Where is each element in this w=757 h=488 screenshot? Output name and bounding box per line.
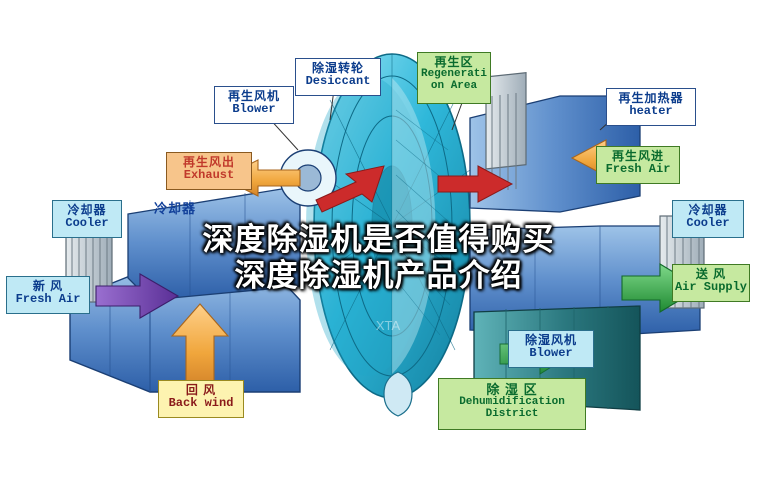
label-regeneration-fresh-air-in-en: Fresh Air [597,163,679,176]
label-regeneration-area-cn: 再生区 [418,56,490,69]
label-back-wind-cn: 回 风 [159,384,243,397]
label-cooler-right-en: Cooler [673,217,743,230]
label-desiccant-wheel: 除湿转轮 Desiccant [295,58,381,96]
label-back-wind: 回 风 Back wind [158,380,244,418]
label-cooler-right: 冷却器 Cooler [672,200,744,238]
label-regeneration-heater-en: heater [607,105,695,118]
label-cooler-left-en: Cooler [53,217,121,230]
svg-text:XTA: XTA [376,318,401,333]
label-dehumidification-blower: 除湿风机 Blower [508,330,594,368]
label-regeneration-area-en: Regenerati on Area [418,69,490,93]
label-regeneration-heater-cn: 再生加热器 [607,92,695,105]
label-fresh-air: 新 风 Fresh Air [6,276,90,314]
label-dehumidification-district-en: Dehumidification District [439,397,585,421]
diagram-canvas: XTA 除湿转轮 Desiccant 再生风机 Blower 再生区 Regen… [0,0,757,488]
label-back-wind-en: Back wind [159,397,243,410]
label-air-supply: 送 风 Air Supply [672,264,750,302]
label-regeneration-exhaust: 再生风出 Exhaust [166,152,252,190]
label-dehumidification-district: 除 湿 区 Dehumidification District [438,378,586,430]
label-cooler-left: 冷却器 Cooler [52,200,122,238]
label-fresh-air-en: Fresh Air [7,293,89,306]
label-cooler-left-plain: 冷却器 [140,198,210,217]
label-dehumidification-district-cn: 除 湿 区 [439,383,585,397]
label-dehumidification-blower-cn: 除湿风机 [509,334,593,347]
label-regeneration-blower-en: Blower [215,103,293,116]
label-cooler-left-cn: 冷却器 [53,204,121,217]
label-air-supply-cn: 送 风 [673,268,749,281]
label-air-supply-en: Air Supply [673,281,749,294]
label-regeneration-fresh-air-in: 再生风进 Fresh Air [596,146,680,184]
label-fresh-air-cn: 新 风 [7,280,89,293]
label-regeneration-exhaust-cn: 再生风出 [167,156,251,169]
label-cooler-left-plain-cn: 冷却器 [140,198,210,217]
label-desiccant-wheel-en: Desiccant [296,75,380,88]
label-regeneration-area: 再生区 Regenerati on Area [417,52,491,104]
label-regeneration-fresh-air-in-cn: 再生风进 [597,150,679,163]
label-regeneration-exhaust-en: Exhaust [167,169,251,182]
label-dehumidification-blower-en: Blower [509,347,593,360]
label-cooler-right-cn: 冷却器 [673,204,743,217]
label-regeneration-blower-cn: 再生风机 [215,90,293,103]
label-regeneration-heater: 再生加热器 heater [606,88,696,126]
label-desiccant-wheel-cn: 除湿转轮 [296,62,380,75]
label-regeneration-blower: 再生风机 Blower [214,86,294,124]
